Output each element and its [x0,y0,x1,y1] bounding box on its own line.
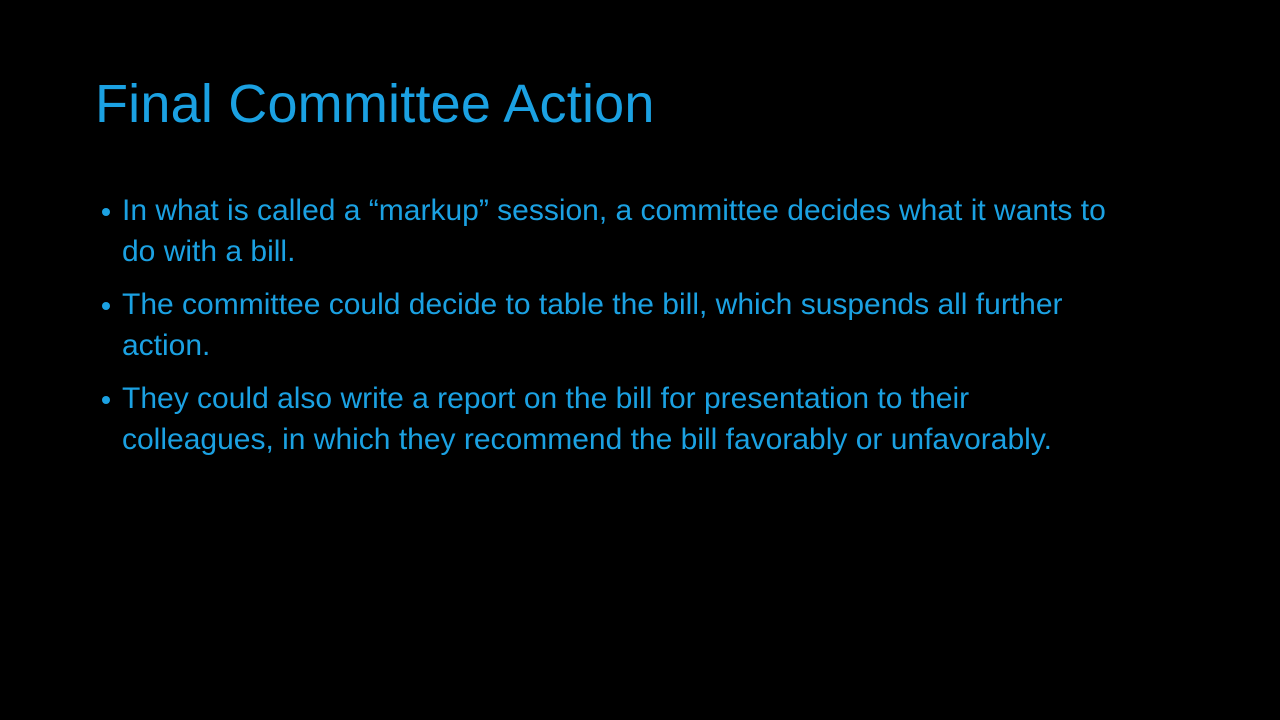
bullet-dot-icon [102,302,110,310]
list-item: The committee could decide to table the … [96,284,1126,366]
list-item-text: They could also write a report on the bi… [122,378,1126,460]
bullet-dot-icon [102,208,110,216]
list-item: In what is called a “markup” session, a … [96,190,1126,272]
list-item: They could also write a report on the bi… [96,378,1126,460]
bullet-dot-icon [102,396,110,404]
list-item-text: In what is called a “markup” session, a … [122,190,1126,272]
list-item-text: The committee could decide to table the … [122,284,1126,366]
presentation-slide: Final Committee Action In what is called… [0,0,1280,720]
page-title: Final Committee Action [95,72,1195,136]
bullet-list: In what is called a “markup” session, a … [96,190,1126,460]
